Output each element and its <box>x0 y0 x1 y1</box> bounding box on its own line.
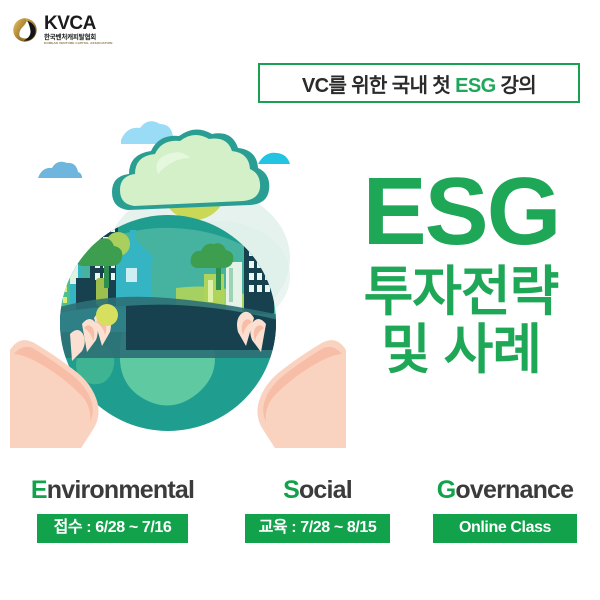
pillar-title-social: Social <box>283 478 352 503</box>
pillar-title-environmental: Environmental <box>31 478 194 503</box>
pillar-initial-e: E <box>31 476 47 504</box>
kvca-swirl-logo-icon <box>12 17 38 43</box>
badge-online-class[interactable]: Online Class <box>433 514 577 543</box>
pillar-social: Social 교육 : 7/28 ~ 8/15 <box>225 478 410 543</box>
kvca-logo-text: KVCA 한국벤처캐피탈협회 KOREAN VENTURE CAPITAL AS… <box>44 14 112 45</box>
pillar-word-governance: overnance <box>455 476 573 504</box>
pillar-initial-g: G <box>437 476 456 504</box>
badge-registration-period[interactable]: 접수 : 6/28 ~ 7/16 <box>37 514 189 543</box>
badge-education-period[interactable]: 교육 : 7/28 ~ 8/15 <box>245 514 391 543</box>
hands-holding-earth-illustration <box>8 118 348 448</box>
pillar-word-environmental: nvironmental <box>47 476 194 504</box>
pillar-title-governance: Governance <box>437 478 574 503</box>
tagline-text: VC를 위한 국내 첫 ESG 강의 <box>302 69 536 98</box>
headline-block: ESG 투자전략 및 사례 <box>330 165 592 380</box>
cloud-icon-left <box>38 162 82 178</box>
pillar-initial-s: S <box>283 476 299 504</box>
esg-pillars-row: Environmental 접수 : 6/28 ~ 7/16 Social 교육… <box>0 478 600 543</box>
brand-name-english: KOREAN VENTURE CAPITAL ASSOCIATION <box>44 42 112 45</box>
tagline-suffix: 강의 <box>496 75 537 97</box>
headline-subtitle-line2: 및 사례 <box>330 321 592 379</box>
headline-esg: ESG <box>330 165 592 259</box>
cloud-icon-right <box>258 153 290 164</box>
tagline-box: VC를 위한 국내 첫 ESG 강의 <box>258 63 580 103</box>
tagline-prefix: VC를 위한 국내 첫 <box>302 75 455 97</box>
esg-course-poster: KVCA 한국벤처캐피탈협회 KOREAN VENTURE CAPITAL AS… <box>0 0 600 600</box>
brand-name: KVCA <box>44 14 112 33</box>
pillar-word-social: ocial <box>299 476 352 504</box>
headline-subtitle-line1: 투자전략 <box>330 263 592 321</box>
kvca-logo: KVCA 한국벤처캐피탈협회 KOREAN VENTURE CAPITAL AS… <box>12 14 112 45</box>
pillar-governance: Governance Online Class <box>410 478 600 543</box>
pillar-environmental: Environmental 접수 : 6/28 ~ 7/16 <box>0 478 225 543</box>
tagline-highlight: ESG <box>455 75 495 97</box>
